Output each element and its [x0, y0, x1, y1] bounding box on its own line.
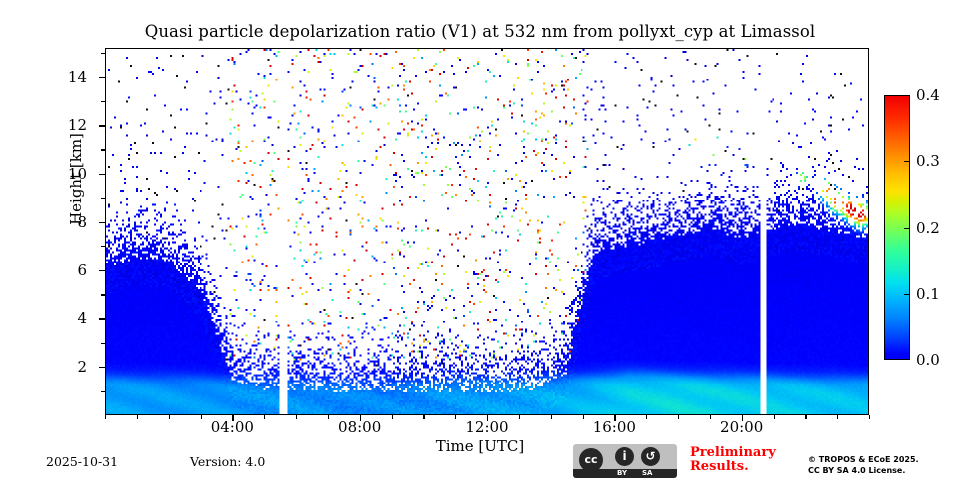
colorbar-tick-mark — [904, 228, 910, 229]
x-minor-tick-mark — [837, 415, 838, 419]
y-tick-label: 14 — [27, 68, 87, 86]
copyright-line-2: CC BY SA 4.0 License. — [808, 466, 919, 477]
y-tick-mark — [99, 174, 105, 175]
y-minor-tick-mark — [101, 343, 105, 344]
y-minor-tick-mark — [101, 53, 105, 54]
page-title: Quasi particle depolarization ratio (V1)… — [0, 22, 960, 41]
x-minor-tick-mark — [169, 415, 170, 419]
x-minor-tick-mark — [519, 415, 520, 419]
x-minor-tick-mark — [774, 415, 775, 419]
x-minor-tick-mark — [710, 415, 711, 419]
y-tick-mark — [99, 318, 105, 319]
preliminary-line-1: Preliminary — [690, 446, 776, 460]
colorbar-tick-mark — [904, 294, 910, 295]
x-axis-label: Time [UTC] — [0, 437, 960, 455]
y-tick-label: 10 — [27, 165, 87, 183]
y-tick-label: 6 — [27, 261, 87, 279]
x-minor-tick-mark — [423, 415, 424, 419]
cc-logo-icon: cc — [579, 448, 603, 472]
copyright-note: © TROPOS & ECoE 2025. CC BY SA 4.0 Licen… — [808, 455, 919, 476]
quicklook-figure: Quasi particle depolarization ratio (V1)… — [0, 0, 960, 480]
plot-axes[interactable] — [105, 48, 869, 415]
y-tick-mark — [99, 77, 105, 78]
copyright-line-1: © TROPOS & ECoE 2025. — [808, 455, 919, 466]
x-minor-tick-mark — [392, 415, 393, 419]
heatmap-canvas[interactable] — [106, 49, 868, 414]
x-minor-tick-mark — [455, 415, 456, 419]
y-tick-mark — [99, 222, 105, 223]
cc-by-icon: i — [615, 447, 634, 466]
x-minor-tick-mark — [328, 415, 329, 419]
colorbar-tick-label: 0.0 — [916, 351, 940, 369]
y-tick-label: 12 — [27, 116, 87, 134]
x-minor-tick-mark — [201, 415, 202, 419]
colorbar-tick-label: 0.1 — [916, 285, 940, 303]
x-minor-tick-mark — [137, 415, 138, 419]
x-minor-tick-mark — [264, 415, 265, 419]
figure-date: 2025-10-31 — [46, 454, 118, 469]
y-tick-mark — [99, 125, 105, 126]
y-minor-tick-mark — [101, 294, 105, 295]
y-minor-tick-mark — [101, 198, 105, 199]
y-minor-tick-mark — [101, 101, 105, 102]
x-tick-mark — [742, 415, 743, 421]
x-minor-tick-mark — [646, 415, 647, 419]
x-tick-mark — [360, 415, 361, 421]
figure-version: Version: 4.0 — [190, 454, 265, 469]
y-tick-label: 2 — [27, 358, 87, 376]
y-minor-tick-mark — [101, 246, 105, 247]
cc-sa-icon: ↺ — [641, 447, 660, 466]
y-minor-tick-mark — [101, 391, 105, 392]
preliminary-results-note: Preliminary Results. — [690, 446, 776, 474]
x-minor-tick-mark — [869, 415, 870, 419]
x-tick-mark — [232, 415, 233, 421]
x-tick-mark — [487, 415, 488, 421]
x-minor-tick-mark — [805, 415, 806, 419]
y-tick-mark — [99, 270, 105, 271]
x-minor-tick-mark — [678, 415, 679, 419]
y-minor-tick-mark — [101, 149, 105, 150]
x-minor-tick-mark — [296, 415, 297, 419]
colorbar-tick-label: 0.3 — [916, 152, 940, 170]
x-minor-tick-mark — [105, 415, 106, 419]
x-minor-tick-mark — [551, 415, 552, 419]
y-tick-mark — [99, 367, 105, 368]
preliminary-line-2: Results. — [690, 460, 776, 474]
colorbar-tick-label: 0.2 — [916, 219, 940, 237]
colorbar-tick-label: 0.4 — [916, 86, 940, 104]
y-tick-label: 8 — [27, 213, 87, 231]
x-tick-mark — [614, 415, 615, 421]
x-minor-tick-mark — [583, 415, 584, 419]
cc-sa-label: SA — [642, 469, 652, 478]
y-tick-label: 4 — [27, 309, 87, 327]
creative-commons-badge[interactable]: cc i ↺ BY SA — [573, 444, 677, 478]
heatmap-surface[interactable] — [106, 49, 868, 414]
cc-by-label: BY — [617, 469, 627, 478]
colorbar-tick-mark — [904, 161, 910, 162]
